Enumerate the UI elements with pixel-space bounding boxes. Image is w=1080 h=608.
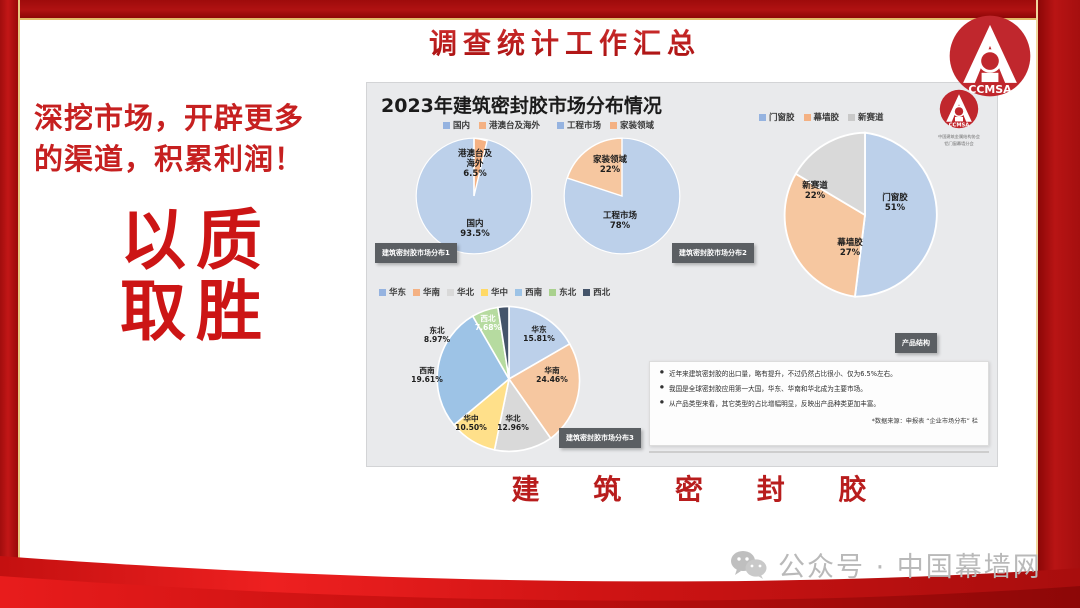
ccmsa-logo-icon: CCMSA	[948, 14, 1032, 98]
legend-label: 新赛道	[858, 111, 884, 123]
bottom-caption: 建 筑 密 封 胶	[500, 468, 900, 508]
legend-swatch-xibei	[583, 289, 590, 296]
legend-label: 华北	[457, 286, 474, 298]
legend-label: 华中	[491, 286, 508, 298]
right-red-band	[1038, 0, 1080, 608]
tag-market-dist-1: 建筑密封胶市场分布1	[375, 243, 457, 263]
legend-swatch-xinan	[515, 289, 522, 296]
legend-swatch-gongcheng	[557, 122, 564, 129]
pie-chart-product-structure	[781, 131, 949, 299]
svg-text:CCMSA: CCMSA	[968, 83, 1012, 96]
watermark-text: 公众号 · 中国幕墙网	[778, 545, 1042, 584]
slide-canvas: 调查统计工作汇总 CCMSA 深挖市场，开辟更多 的渠道，积累利润！ 以质 取胜…	[0, 0, 1080, 608]
pie4-label-dongbei: 东北8.97%	[413, 327, 461, 345]
legend-product: 门窗胶 幕墙胶 新赛道	[759, 111, 884, 123]
legend-swatch-xinsaidao	[848, 114, 855, 121]
insights-list: 近年来建筑密封胶的出口量，略有提升，不过仍然占比很小、仅为6.5%左右。 我国是…	[660, 370, 978, 409]
legend-swatch-jiazhuang	[610, 122, 617, 129]
watermark: 公众号 · 中国幕墙网	[730, 545, 1042, 584]
legend-item: 家装领域	[610, 119, 654, 131]
legend-item: 东北	[549, 286, 576, 298]
legend-swatch-huazhong	[481, 289, 488, 296]
embedded-slide-image: 2023年建筑密封胶市场分布情况 CCMSA 中国建筑金属结构协会 铝门窗幕墙分…	[366, 82, 998, 467]
pie4-label-xibei: 西北7.68%	[465, 315, 511, 333]
lead-statement: 深挖市场，开辟更多 的渠道，积累利润！	[34, 98, 364, 180]
notebox-underline	[649, 451, 989, 453]
pie4-label-huazhong: 华中10.50%	[445, 415, 497, 433]
insights-notebox: 近年来建筑密封胶的出口量，略有提升，不过仍然占比很小、仅为6.5%左右。 我国是…	[649, 361, 989, 446]
legend-swatch-huanan	[413, 289, 420, 296]
inner-slide-title: 2023年建筑密封胶市场分布情况	[381, 91, 662, 118]
tag-market-dist-3: 建筑密封胶市场分布3	[559, 428, 641, 448]
legend-label: 幕墙胶	[814, 111, 840, 123]
ccmsa-logo: CCMSA	[948, 14, 1032, 98]
top-red-band	[0, 0, 1080, 18]
left-gold-line	[18, 0, 20, 608]
pie1-label-domestic: 国内93.5%	[447, 219, 503, 239]
legend-item: 港澳台及海外	[479, 119, 540, 131]
legend-label: 华东	[389, 286, 406, 298]
legend-label: 家装领域	[620, 119, 654, 131]
pie3-label-window: 门窗胶51%	[867, 193, 923, 213]
legend-label: 工程市场	[567, 119, 601, 131]
insight-item: 我国是全球密封胶应用第一大国，华东、华南和华北成为主要市场。	[660, 385, 978, 393]
wechat-icon	[730, 550, 768, 580]
legend-label: 国内	[453, 119, 470, 131]
pie4-label-huadong: 华东15.81%	[513, 326, 565, 344]
pie2-label-project: 工程市场78%	[589, 211, 651, 231]
legend-swatch-dongbei	[549, 289, 556, 296]
legend-region: 华东 华南 华北 华中 西南 东北	[379, 286, 610, 298]
top-gold-line	[0, 18, 1080, 20]
legend-swatch-guonei	[443, 122, 450, 129]
left-red-band	[0, 0, 18, 608]
pie3-label-curtainwall: 幕墙胶27%	[822, 238, 878, 258]
inner-logo-caption-2: 铝门窗幕墙分会	[931, 141, 987, 147]
lead-line-2: 的渠道，积累利润！	[34, 139, 364, 180]
legend-top: 国内 港澳台及海外 工程市场 家装领域	[443, 119, 654, 131]
legend-item: 华南	[413, 286, 440, 298]
legend-item: 门窗胶	[759, 111, 795, 123]
slogan-line-2: 取胜	[120, 276, 340, 347]
pie4-label-xinan: 西南19.61%	[399, 367, 455, 385]
legend-swatch-huabei	[447, 289, 454, 296]
legend-swatch-menchuangjiao	[759, 114, 766, 121]
legend-item: 华中	[481, 286, 508, 298]
legend-item: 西北	[583, 286, 610, 298]
insight-item: 近年来建筑密封胶的出口量，略有提升，不过仍然占比很小、仅为6.5%左右。	[660, 370, 978, 378]
legend-swatch-huadong	[379, 289, 386, 296]
pie3-label-newtrack: 新赛道22%	[787, 181, 843, 201]
legend-item: 国内	[443, 119, 470, 131]
legend-item: 幕墙胶	[804, 111, 840, 123]
tag-market-dist-2: 建筑密封胶市场分布2	[672, 243, 754, 263]
right-gold-line	[1036, 0, 1038, 608]
data-source-note: *数据来源：申报表 “企业市场分布” 栏	[660, 416, 978, 425]
page-title: 调查统计工作汇总	[330, 22, 800, 64]
legend-swatch-haiwai	[479, 122, 486, 129]
legend-label: 西北	[593, 286, 610, 298]
legend-label: 东北	[559, 286, 576, 298]
lead-line-1: 深挖市场，开辟更多	[34, 101, 304, 135]
legend-label: 门窗胶	[769, 111, 795, 123]
legend-item: 华北	[447, 286, 474, 298]
insight-item: 从产品类型来看，其它类型的占比增幅明显，反映出产品种类更加丰富。	[660, 400, 978, 408]
pie2-label-home: 家装领域22%	[579, 155, 641, 175]
legend-item: 西南	[515, 286, 542, 298]
legend-label: 西南	[525, 286, 542, 298]
legend-swatch-muqiangjiao	[804, 114, 811, 121]
legend-label: 港澳台及海外	[489, 119, 540, 131]
tag-product-structure: 产品结构	[895, 333, 937, 353]
legend-item: 工程市场	[557, 119, 601, 131]
pie1-label-overseas: 港澳台及海外6.5%	[439, 149, 511, 179]
svg-text:CCMSA: CCMSA	[949, 123, 970, 129]
inner-logo-caption-1: 中国建筑金属结构协会	[931, 134, 987, 140]
legend-item: 华东	[379, 286, 406, 298]
pie4-label-huanan: 华南24.46%	[523, 367, 581, 385]
legend-label: 华南	[423, 286, 440, 298]
big-slogan: 以质 取胜	[120, 205, 340, 348]
legend-item: 新赛道	[848, 111, 884, 123]
slogan-line-1: 以质	[120, 205, 340, 276]
